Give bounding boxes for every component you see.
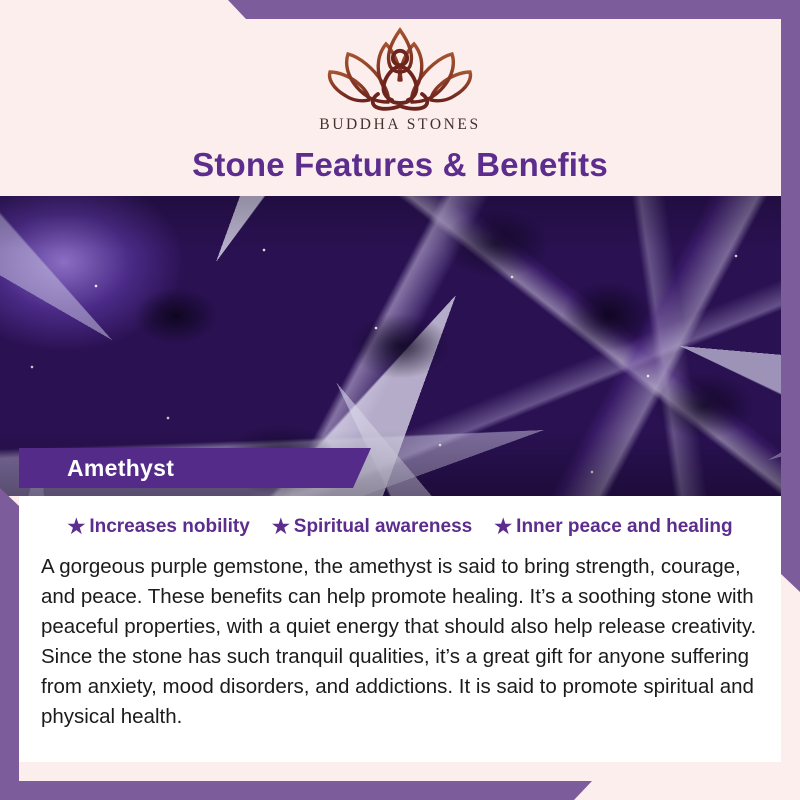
- stone-name-banner: Amethyst: [19, 448, 371, 488]
- benefit-item-spiritual-awareness: ★ Spiritual awareness: [272, 516, 472, 538]
- frame-border-left: [0, 488, 19, 800]
- lotus-meditating-figure-logo-icon: [316, 22, 484, 114]
- card-header: BUDDHA STONES Stone Features & Benefits: [0, 0, 800, 196]
- benefit-label: Increases nobility: [89, 516, 250, 538]
- benefit-label: Spiritual awareness: [294, 516, 472, 538]
- benefit-item-increases-nobility: ★ Increases nobility: [67, 516, 249, 538]
- star-icon: ★: [272, 517, 290, 537]
- frame-border-right: [781, 0, 800, 592]
- benefits-list: ★ Increases nobility ★ Spiritual awarene…: [35, 496, 765, 538]
- stone-info-card: BUDDHA STONES Stone Features & Benefits …: [0, 0, 800, 800]
- star-icon: ★: [494, 517, 512, 537]
- brand-name: BUDDHA STONES: [319, 116, 480, 134]
- benefit-label: Inner peace and healing: [516, 516, 732, 538]
- star-icon: ★: [67, 517, 85, 537]
- stone-name-label: Amethyst: [67, 455, 174, 482]
- benefit-item-inner-peace-and-healing: ★ Inner peace and healing: [494, 516, 732, 538]
- stone-description: A gorgeous purple gemstone, the amethyst…: [35, 552, 765, 732]
- frame-border-bottom: [0, 781, 800, 800]
- page-title: Stone Features & Benefits: [192, 146, 608, 184]
- stone-details-panel: ★ Increases nobility ★ Spiritual awarene…: [19, 496, 781, 762]
